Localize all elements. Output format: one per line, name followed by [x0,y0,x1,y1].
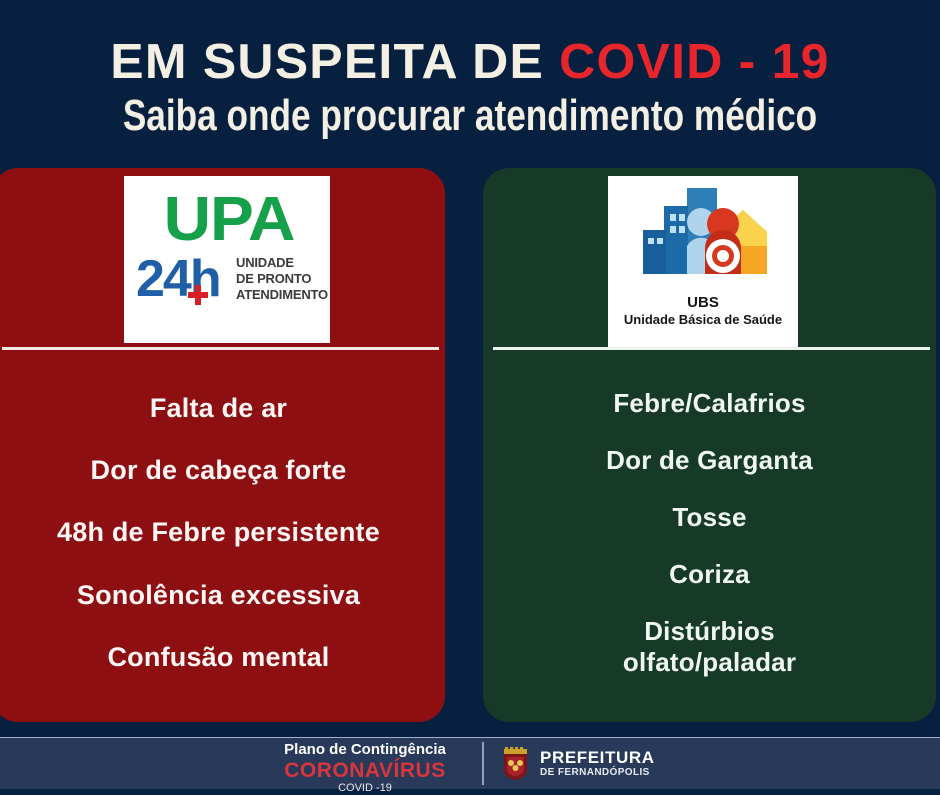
upa-subtitle-line-2: DE PRONTO [236,271,322,287]
upa-symptom-list: Falta de ar Dor de cabeça forte 48h de F… [0,356,445,714]
footer-separator [482,742,484,785]
poster-footer: Plano de Contingência CORONAVÍRUS COVID … [0,737,940,789]
list-item: Febre/Calafrios [613,388,805,419]
panel-divider [493,347,930,350]
health-unit-illustration-icon [631,184,777,294]
headline: EM SUSPEITA DE COVID - 19 [0,36,940,88]
list-item: 48h de Febre persistente [57,517,380,548]
list-item: Falta de ar [150,393,287,424]
list-item: Tosse [672,502,746,533]
headline-accent-text: COVID - 19 [559,35,830,89]
headline-main-text: EM SUSPEITA DE [110,35,544,89]
list-item: Confusão mental [107,642,329,673]
list-item: Distúrbios olfato/paladar [595,616,825,678]
upa-wordmark: UPA [133,189,326,251]
plan-name: CORONAVÍRUS [250,759,480,782]
city-name-line-1: PREFEITURA [540,748,655,767]
ubs-wordmark: UBS [613,294,793,312]
upa-logo-box: UPA 24h UNIDADE DE PRONTO ATENDIMENTO [124,176,330,343]
ubs-caption: UBS Unidade Básica de Saúde [613,294,793,328]
plan-subtitle: COVID -19 [250,782,480,795]
upa-subtitle: UNIDADE DE PRONTO ATENDIMENTO [236,255,322,303]
ubs-caption-text: Unidade Básica de Saúde [613,312,793,328]
panel-ubs: UBS Unidade Básica de Saúde Febre/Calafr… [483,168,936,722]
upa-logo: UPA 24h UNIDADE DE PRONTO ATENDIMENTO [132,185,322,335]
list-item: Coriza [669,559,750,590]
poster-canvas: EM SUSPEITA DE COVID - 19 Saiba onde pro… [0,0,940,788]
contingency-plan-logo: Plano de Contingência CORONAVÍRUS COVID … [250,741,480,795]
ubs-logo: UBS Unidade Básica de Saúde [613,182,793,342]
list-item: Dor de cabeça forte [91,455,347,486]
list-item: Sonolência excessiva [77,580,360,611]
poster-header: EM SUSPEITA DE COVID - 19 Saiba onde pro… [0,0,940,160]
medical-cross-icon [188,285,208,305]
panel-divider [2,347,439,350]
upa-subtitle-line-1: UNIDADE [236,255,322,271]
coat-of-arms-icon [500,746,531,781]
list-item: Dor de Garganta [606,445,813,476]
headline-subtitle: Saiba onde procurar atendimento médico [94,92,846,140]
city-hall-logo: PREFEITURA DE FERNANDÓPOLIS [500,746,655,781]
ubs-logo-box: UBS Unidade Básica de Saúde [608,176,798,348]
plan-title: Plano de Contingência [250,741,480,759]
panel-upa: UPA 24h UNIDADE DE PRONTO ATENDIMENTO Fa… [0,168,445,722]
city-hall-text: PREFEITURA DE FERNANDÓPOLIS [540,748,655,779]
upa-subtitle-line-3: ATENDIMENTO [236,287,322,303]
ubs-symptom-list: Febre/Calafrios Dor de Garganta Tosse Co… [483,356,936,714]
city-name-line-2: DE FERNANDÓPOLIS [540,767,655,779]
